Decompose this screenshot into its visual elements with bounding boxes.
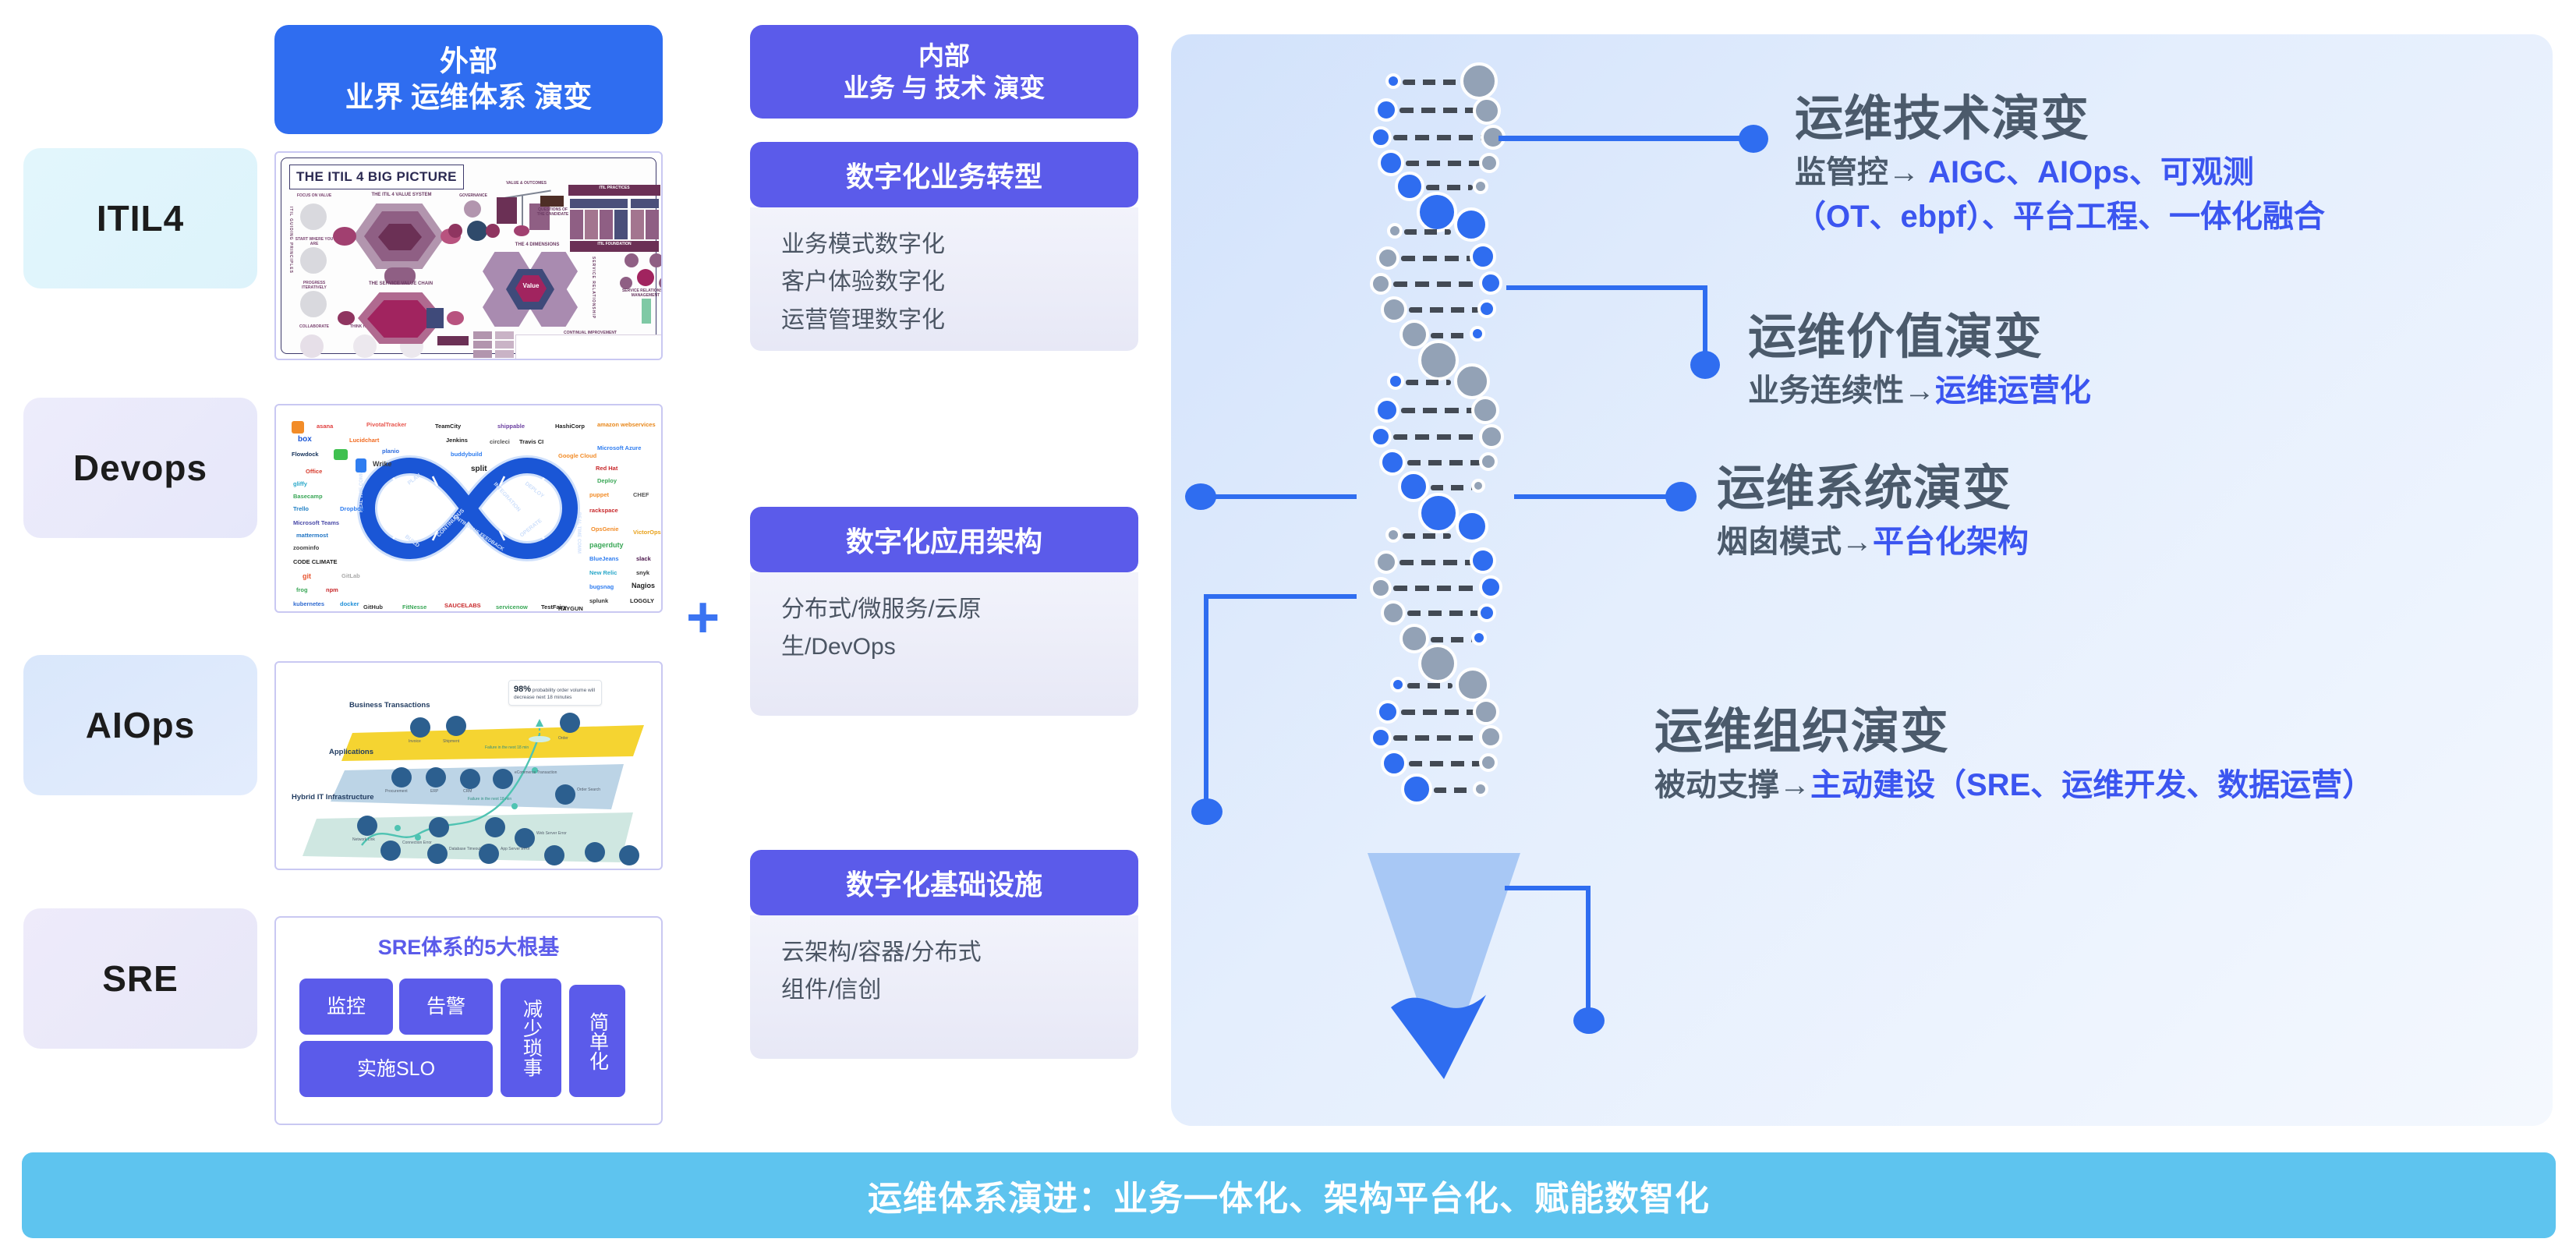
evolution-desc: 烟囱模式→平台化架构 [1717, 520, 2263, 565]
sre-box-monitoring[interactable]: 监控 [299, 979, 393, 1035]
sre-card-title: SRE体系的5大根基 [276, 930, 661, 961]
aiops-layer-label-business: Business Transactions [349, 702, 430, 710]
aiops-node-label: ERP [430, 789, 438, 794]
aiops-node-icon [427, 844, 448, 864]
internal-card-body: 业务模式数字化 客户体验数字化 运营管理数字化 [750, 207, 1138, 351]
aiops-node-label: Network Link [352, 837, 375, 842]
aiops-node-label: CRM [463, 789, 472, 794]
evolution-block-technology: 运维技术演变 监管控→ AIGC、AIOps、可观测（OT、ebpf）、平台工程… [1795, 92, 2341, 239]
aiops-node-icon [391, 767, 412, 787]
aiops-node-label: App Server Error [501, 847, 530, 851]
devops-poster-card[interactable]: PLAN BUILD CONTINUOUS INTEGRATION DEPLOY… [274, 404, 663, 613]
itil4-poster-title: THE ITIL 4 BIG PICTURE [289, 165, 464, 189]
evolution-title: 运维组织演变 [1654, 705, 2496, 759]
itil4-poster-image: THE ITIL 4 BIG PICTURE ITIL GUIDING PRIN… [281, 157, 656, 354]
internal-card-line: 运营管理数字化 [781, 303, 1107, 338]
connector-line-1 [1499, 136, 1746, 141]
evolution-panel: 运维技术演变 监管控→ AIGC、AIOps、可观测（OT、ebpf）、平台工程… [1171, 34, 2553, 1126]
external-header-line1: 外部 [440, 44, 497, 80]
connector-line-3 [1514, 494, 1676, 499]
aiops-node-label: Shipment [443, 739, 459, 744]
aiops-node-icon [585, 842, 605, 862]
evolution-prefix: 业务连续性→ [1748, 373, 1935, 408]
aiops-node-icon [410, 717, 430, 738]
internal-card-body: 云架构/容器/分布式 组件/信创 [750, 915, 1138, 1059]
evolution-desc: 被动支撑→主动建设（SRE、运维开发、数据运营） [1654, 763, 2496, 808]
category-chip-devops[interactable]: Devops [23, 398, 257, 538]
internal-card-line: 生/DevOps [781, 630, 1107, 664]
connector-line-4 [1505, 886, 1591, 890]
category-chip-itil4[interactable]: ITIL4 [23, 148, 257, 288]
summary-banner-text: 运维体系演进：业务一体化、架构平台化、赋能数智化 [868, 1170, 1710, 1220]
category-chip-label: AIOps [86, 704, 195, 746]
aiops-node-icon [560, 713, 580, 733]
internal-header-line2: 业务 与 技术 演变 [844, 72, 1046, 104]
slide-canvas: ITIL4 Devops AIOps SRE 外部 业界 运维体系 演变 THE… [0, 0, 2576, 1260]
svg-text:REAL TIME COMM: REAL TIME COMM [576, 512, 581, 554]
aiops-node-label: Connection Error [402, 841, 432, 845]
summary-banner: 运维体系演进：业务一体化、架构平台化、赋能数智化 [22, 1152, 2556, 1238]
aiops-node-label: Procurement [385, 789, 408, 794]
connector-dot-1 [1739, 125, 1768, 153]
devops-poster-image: PLAN BUILD CONTINUOUS INTEGRATION DEPLOY… [281, 410, 656, 607]
evolution-desc: 监管控→ AIGC、AIOps、可观测（OT、ebpf）、平台工程、一体化融合 [1795, 150, 2341, 239]
aiops-node-label: Web Server Error [536, 831, 567, 836]
evolution-block-system: 运维系统演变 烟囱模式→平台化架构 [1717, 462, 2263, 565]
aiops-node-icon [460, 769, 480, 789]
evolution-prefix: 被动支撑→ [1654, 768, 1810, 802]
aiops-node-icon [357, 816, 377, 836]
internal-column-header: 内部 业务 与 技术 演变 [750, 25, 1138, 119]
internal-card-line: 组件/信创 [781, 973, 1107, 1007]
connector-dot-3-left [1185, 483, 1216, 510]
internal-card-application-architecture[interactable]: 数字化应用架构 分布式/微服务/云原 生/DevOps [750, 507, 1138, 716]
svg-text:DEPLOY: DEPLOY [524, 481, 545, 499]
aiops-poster-card[interactable]: Business Transactions Applications Hybri… [274, 661, 663, 870]
evolution-title: 运维技术演变 [1795, 92, 2341, 146]
internal-card-line: 分布式/微服务/云原 [781, 593, 1107, 627]
internal-card-title: 数字化应用架构 [750, 507, 1138, 572]
internal-card-body: 分布式/微服务/云原 生/DevOps [750, 572, 1138, 716]
aiops-node-icon [429, 817, 449, 837]
evolution-highlight: 主动建设（SRE、运维开发、数据运营） [1810, 768, 2373, 802]
evolution-prefix: 监管控→ [1795, 155, 1928, 189]
category-chip-label: Devops [73, 447, 207, 489]
aiops-node-icon [544, 845, 564, 865]
dna-helix-icon [1370, 58, 1541, 837]
aiops-warning-1: Failure in the next 18 min [485, 745, 529, 750]
aiops-node-icon [515, 828, 535, 848]
evolution-highlight: 平台化架构 [1873, 525, 2029, 559]
aiops-node-icon [446, 716, 466, 736]
connector-line-2 [1506, 285, 1707, 290]
internal-card-infrastructure[interactable]: 数字化基础设施 云架构/容器/分布式 组件/信创 [750, 850, 1138, 1059]
funnel-icon [1368, 853, 1520, 1079]
aiops-probability-value: 98% [514, 685, 531, 694]
sre-box-toil[interactable]: 减少琐事 [501, 979, 561, 1097]
connector-dot-4-left [1191, 798, 1223, 825]
aiops-node-label: Database Timeout [449, 847, 481, 851]
evolution-highlight: 运维运营化 [1935, 373, 2091, 408]
evolution-title: 运维系统演变 [1717, 462, 2263, 515]
connector-line-4-vertical [1586, 886, 1591, 1018]
internal-card-business-transformation[interactable]: 数字化业务转型 业务模式数字化 客户体验数字化 运营管理数字化 [750, 142, 1138, 351]
aiops-node-icon [485, 817, 505, 837]
aiops-layer-label-infra: Hybrid IT Infrastructure [292, 794, 374, 802]
aiops-node-icon [493, 769, 513, 789]
aiops-node-label: Order Search [577, 787, 600, 792]
itil4-poster-card[interactable]: THE ITIL 4 BIG PICTURE ITIL GUIDING PRIN… [274, 151, 663, 360]
internal-card-line: 云架构/容器/分布式 [781, 936, 1107, 970]
plus-icon: + [686, 589, 720, 646]
category-chip-sre[interactable]: SRE [23, 908, 257, 1049]
sre-box-alerting[interactable]: 告警 [399, 979, 493, 1035]
aiops-node-icon [619, 845, 639, 865]
internal-card-title: 数字化基础设施 [750, 850, 1138, 915]
aiops-warning-2: Failure in the next 18 min [468, 797, 511, 802]
aiops-node-icon [426, 767, 446, 787]
aiops-node-icon [479, 844, 499, 864]
connector-line-4-left [1204, 594, 1357, 599]
svg-text:INTEGRATION: INTEGRATION [493, 482, 522, 513]
evolution-block-value: 运维价值演变 业务连续性→运维运营化 [1748, 310, 2294, 413]
svg-text:OPERATE: OPERATE [519, 518, 543, 538]
aiops-node-label: Invoice [409, 739, 421, 744]
category-chip-aiops[interactable]: AIOps [23, 655, 257, 795]
evolution-desc: 业务连续性→运维运营化 [1748, 369, 2294, 413]
aiops-node-icon [380, 841, 401, 861]
evolution-title: 运维价值演变 [1748, 310, 2294, 364]
internal-card-title: 数字化业务转型 [750, 142, 1138, 207]
internal-card-line: 业务模式数字化 [781, 228, 1107, 262]
internal-card-line: 客户体验数字化 [781, 265, 1107, 299]
aiops-node-icon [555, 784, 575, 805]
evolution-block-organization: 运维组织演变 被动支撑→主动建设（SRE、运维开发、数据运营） [1654, 705, 2496, 808]
connector-line-3-left [1202, 494, 1357, 499]
sre-box-slo[interactable]: 实施SLO [299, 1041, 493, 1097]
external-column-header: 外部 业界 运维体系 演变 [274, 25, 663, 134]
category-chip-label: SRE [102, 957, 179, 1000]
category-chip-label: ITIL4 [97, 197, 184, 239]
connector-line-4-left-vertical [1204, 594, 1208, 809]
sre-box-simplicity[interactable]: 简单化 [569, 985, 625, 1097]
aiops-node-label: Order [558, 736, 568, 741]
evolution-prefix: 烟囱模式→ [1717, 525, 1873, 559]
aiops-layer-label-applications: Applications [329, 749, 373, 757]
sre-foundations-card[interactable]: SRE体系的5大根基 监控 告警 实施SLO 减少琐事 简单化 [274, 916, 663, 1125]
aiops-probability-callout: 98% probability order volume will decrea… [508, 680, 602, 706]
internal-header-line1: 内部 [918, 40, 970, 72]
external-header-line2: 业界 运维体系 演变 [345, 80, 593, 115]
connector-dot-4 [1573, 1007, 1605, 1034]
connector-dot-3 [1665, 482, 1697, 511]
aiops-poster-image: Business Transactions Applications Hybri… [281, 667, 656, 864]
aiops-node-label: eCommerce Transaction [515, 770, 557, 775]
connector-dot-2 [1690, 351, 1720, 379]
